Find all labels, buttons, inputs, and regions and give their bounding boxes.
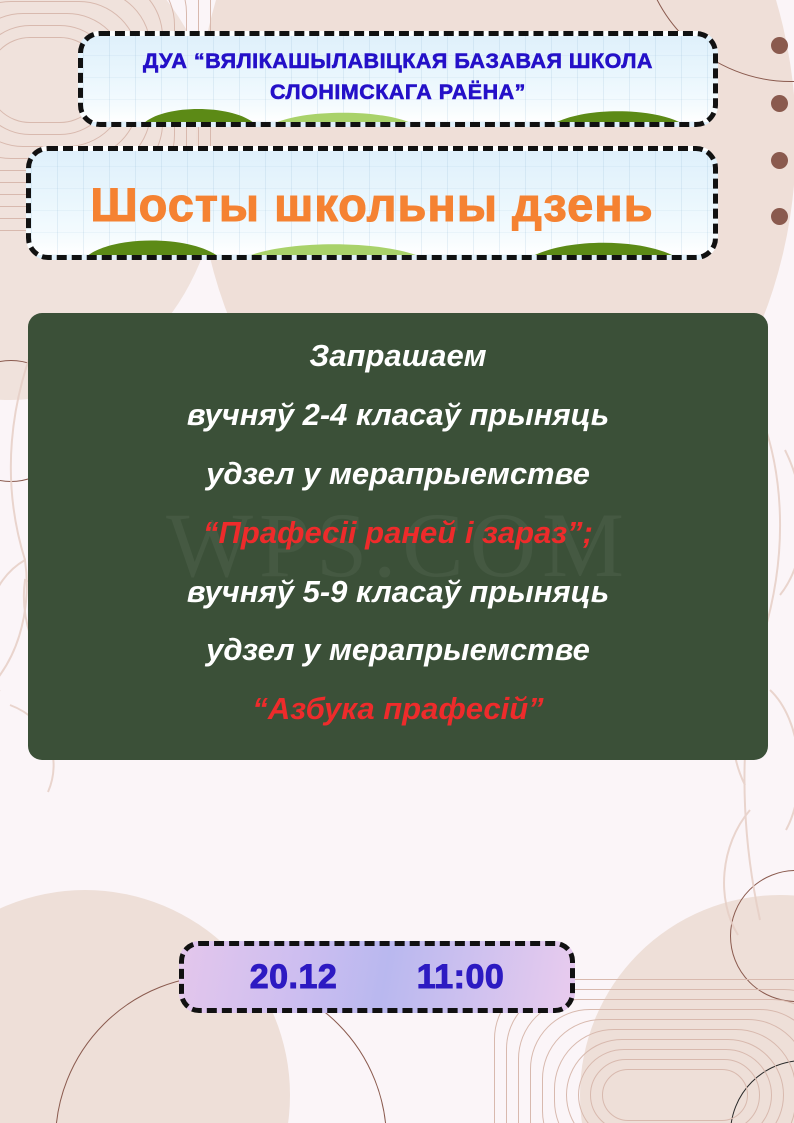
announcement-panel: WPS.COM Запрашаем вучняў 2-4 класаў прын… (28, 313, 768, 760)
decor-ring-bottom-right-lower (730, 1060, 794, 1123)
announcement-event-title-secondary: “Азбука прафесій” (252, 680, 543, 739)
sixth-school-day-title: Шосты школьны дзень (31, 151, 713, 228)
announcement-line: Запрашаем (309, 327, 486, 386)
school-name-card: ДУА “ВЯЛІКАШЫЛАВІЦКАЯ БАЗАВАЯ ШКОЛА СЛОН… (78, 31, 718, 127)
event-date: 20.12 (250, 958, 338, 997)
decorative-dot (771, 208, 788, 225)
decorative-dot (771, 37, 788, 54)
announcement-line: удзел у мерапрыемстве (206, 621, 590, 680)
decorative-dot (771, 95, 788, 112)
announcement-event-title-primary: “Прафесіі раней і зараз”; (203, 504, 593, 563)
decor-blob-bottom-right (580, 895, 794, 1123)
school-name-line-2: СЛОНІМСКАГА РАЁНА” (97, 77, 699, 108)
decorative-dot (771, 152, 788, 169)
school-name-line-1: ДУА “ВЯЛІКАШЫЛАВІЦКАЯ БАЗАВАЯ ШКОЛА (97, 46, 699, 77)
announcement-line: вучняў 2-4 класаў прыняць (187, 386, 609, 445)
decor-ring-bottom-right-upper (730, 870, 794, 1002)
sixth-school-day-card: Шосты школьны дзень (26, 146, 718, 260)
school-name-text: ДУА “ВЯЛІКАШЫЛАВІЦКАЯ БАЗАВАЯ ШКОЛА СЛОН… (83, 36, 713, 107)
datetime-card: 20.12 11:00 (179, 941, 575, 1013)
announcement-line: удзел у мерапрыемстве (206, 445, 590, 504)
announcement-line: вучняў 5-9 класаў прыняць (187, 563, 609, 622)
poster-canvas: ДУА “ВЯЛІКАШЫЛАВІЦКАЯ БАЗАВАЯ ШКОЛА СЛОН… (0, 0, 794, 1123)
event-time: 11:00 (417, 958, 505, 997)
